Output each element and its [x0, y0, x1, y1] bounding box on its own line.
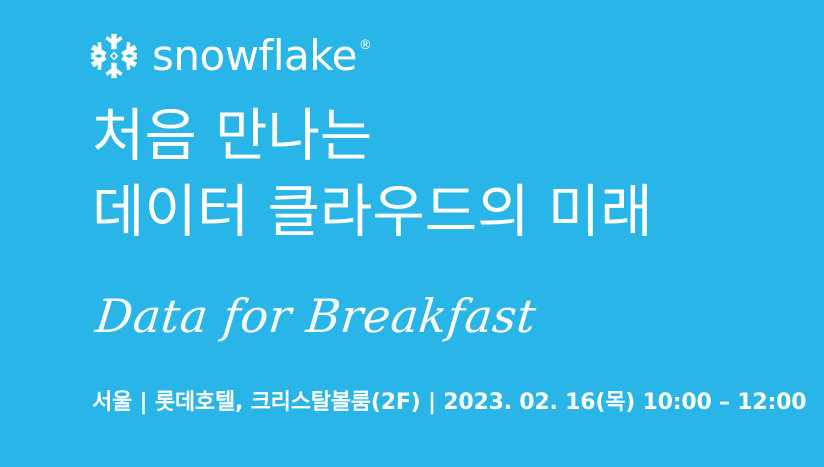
registered-trademark-icon: ®: [359, 39, 372, 52]
brand-wordmark: snowflake: [152, 32, 357, 80]
headline-line-2: 데이터 클라우드의 미래: [92, 174, 792, 250]
snowflake-icon: [90, 32, 138, 80]
script-subtitle: Data for Breakfast: [93, 284, 540, 348]
headline: 처음 만나는 데이터 클라우드의 미래: [92, 98, 792, 250]
brand-wordmark-wrap: snowflake ®: [152, 32, 372, 80]
event-details: 서울 | 롯데호텔, 크리스탈볼룸(2F) | 2023. 02. 16(목) …: [92, 388, 806, 418]
event-banner: snowflake ® 처음 만나는 데이터 클라우드의 미래 Data for…: [0, 0, 824, 467]
headline-line-1: 처음 만나는: [92, 98, 792, 174]
brand-lockup: snowflake ®: [90, 30, 372, 82]
